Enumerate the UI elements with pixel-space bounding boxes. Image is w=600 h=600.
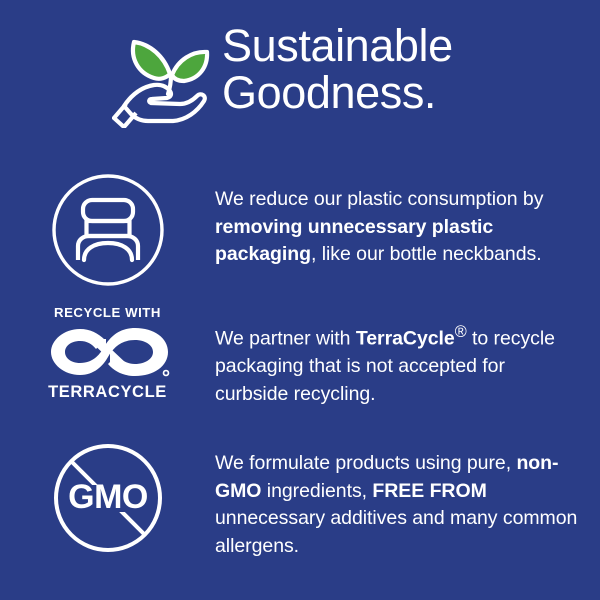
terracycle-logo: RECYCLE WITH TERRACYCLE: [42, 305, 174, 401]
bottle-in-circle-icon: [50, 172, 166, 288]
feature-text-plastic: We reduce our plastic consumption by rem…: [215, 172, 600, 269]
icon-column: [0, 172, 215, 288]
page-title-line-2: Goodness.: [222, 69, 453, 116]
gmo-label: GMO: [68, 478, 148, 516]
text-part-3: unnecessary additives and many common al…: [215, 507, 577, 557]
feature-row-non-gmo: GMO We formulate products using pure, no…: [0, 440, 600, 560]
icon-column: RECYCLE WITH TERRACYCLE: [0, 305, 215, 401]
page-title: Sustainable Goodness.: [222, 22, 453, 116]
text-part-1: We reduce our plastic consumption by: [215, 188, 543, 210]
text-part-1: We partner with: [215, 328, 356, 350]
registered-mark: ®: [455, 323, 467, 341]
text-part-1: We formulate products using pure,: [215, 452, 516, 474]
text-part-2: , like our bottle neckbands.: [311, 243, 542, 265]
terracycle-logo-top-text: RECYCLE WITH: [54, 305, 161, 320]
icon-column: GMO: [0, 440, 215, 556]
feature-row-plastic: We reduce our plastic consumption by rem…: [0, 172, 600, 288]
feature-text-non-gmo: We formulate products using pure, non-GM…: [215, 440, 600, 560]
feature-row-terracycle: RECYCLE WITH TERRACYCLE: [0, 305, 600, 408]
feature-text-terracycle: We partner with TerraCycle® to recycle p…: [215, 305, 600, 408]
text-part-2: ingredients,: [261, 480, 372, 502]
terracycle-logo-bottom-text: TERRACYCLE: [48, 383, 167, 401]
no-gmo-icon: GMO: [50, 440, 166, 556]
text-bold-2: FREE FROM: [372, 480, 486, 502]
text-bold-1: TerraCycle: [356, 328, 455, 350]
sustainability-infographic: Sustainable Goodness. We re: [0, 0, 600, 600]
page-title-line-1: Sustainable: [222, 20, 453, 71]
leaf-in-hand-icon: [112, 28, 214, 128]
terracycle-infinity-loop-icon: [42, 323, 174, 381]
header: Sustainable Goodness.: [0, 22, 600, 128]
